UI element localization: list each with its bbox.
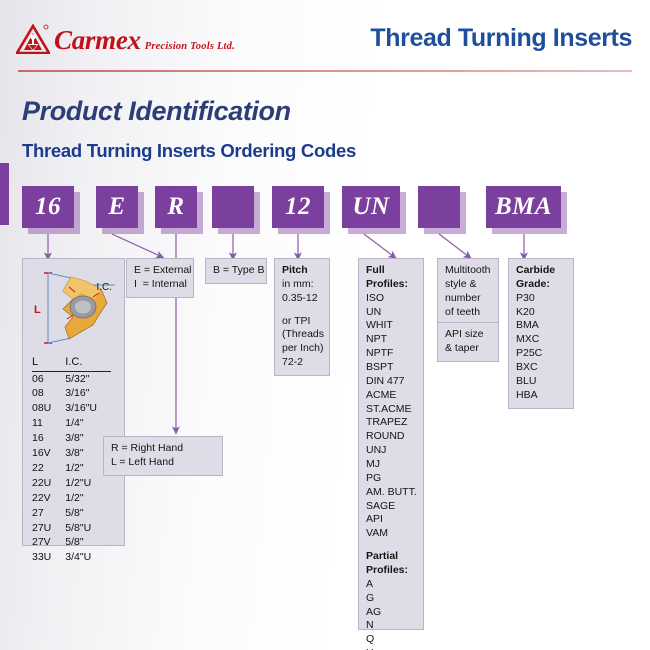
page-subtitle: Thread Turning Inserts Ordering Codes bbox=[22, 140, 356, 162]
multitooth-line-3: number bbox=[445, 292, 491, 306]
carmex-triangle-icon bbox=[16, 24, 50, 54]
pitch-mm-range: 0.35-12 bbox=[282, 292, 322, 306]
panel-hand-direction: R = Right Hand L = Left Hand bbox=[103, 436, 223, 476]
pitch-tpi-label: or TPI bbox=[282, 315, 322, 329]
table-row: 065/32" bbox=[32, 371, 111, 386]
panel-type-b: B = Type B bbox=[205, 258, 267, 284]
carbide-heading-2: Grade: bbox=[516, 278, 566, 292]
cell-ic: 1/4" bbox=[65, 416, 111, 431]
insert-figure: I.C. L bbox=[23, 259, 124, 355]
list-item: K20 bbox=[516, 306, 566, 320]
list-item: NPT bbox=[366, 333, 416, 347]
api-line-2: & taper bbox=[445, 342, 491, 356]
panel-profiles: Full Profiles: ISOUNWHITNPTNPTFBSPTDIN 4… bbox=[358, 258, 424, 630]
table-header-row: L I.C. bbox=[32, 355, 111, 371]
partial-profiles-heading-2: Profiles: bbox=[366, 564, 416, 578]
panel-external-internal: E = External I = Internal bbox=[126, 258, 194, 298]
left-accent-bar bbox=[0, 163, 9, 225]
column-header-l: L bbox=[32, 355, 65, 371]
api-line-1: API size bbox=[445, 328, 491, 342]
list-item: DIN 477 bbox=[366, 375, 416, 389]
pitch-tpi-range: 72-2 bbox=[282, 356, 322, 370]
carmex-logo: Carmex Precision Tools Ltd. bbox=[16, 24, 235, 54]
cell-ic: 3/16"U bbox=[65, 401, 111, 416]
ic-dimension-label: I.C. bbox=[96, 281, 112, 294]
partial-profiles-heading-1: Partial bbox=[366, 550, 416, 564]
list-item: AM. BUTT. bbox=[366, 486, 416, 500]
cell-l: 27 bbox=[32, 506, 65, 521]
cell-l: 27U bbox=[32, 521, 65, 536]
cell-l: 16V bbox=[32, 446, 65, 461]
carbide-heading-1: Carbide bbox=[516, 264, 566, 278]
list-item: VAM bbox=[366, 527, 416, 541]
code-box-type: E bbox=[96, 186, 138, 228]
cell-l: 27V bbox=[32, 535, 65, 550]
column-header-ic: I.C. bbox=[65, 355, 111, 371]
table-row: 27U5/8"U bbox=[32, 521, 111, 536]
cell-ic: 1/2" bbox=[65, 491, 111, 506]
cell-ic: 5/8"U bbox=[65, 521, 111, 536]
panel-carbide-grade: Carbide Grade: P30K20BMAMXCP25CBXCBLUHBA bbox=[508, 258, 574, 409]
carbide-grade-list: P30K20BMAMXCP25CBXCBLUHBA bbox=[516, 292, 566, 403]
full-profiles-heading-2: Profiles: bbox=[366, 278, 416, 292]
list-item: SAGE bbox=[366, 500, 416, 514]
list-item: ISO bbox=[366, 292, 416, 306]
cell-l: 22 bbox=[32, 461, 65, 476]
cell-l: 11 bbox=[32, 416, 65, 431]
list-item: BXC bbox=[516, 361, 566, 375]
list-item: AG bbox=[366, 606, 416, 620]
full-profiles-list: ISOUNWHITNPTNPTFBSPTDIN 477ACMEST.ACMETR… bbox=[366, 292, 416, 541]
table-row: 33U3/4"U bbox=[32, 550, 111, 565]
cell-ic: 5/8" bbox=[65, 506, 111, 521]
list-item: TRAPEZ bbox=[366, 416, 416, 430]
panel-api-size: API size & taper bbox=[437, 322, 499, 362]
list-item: BMA bbox=[516, 319, 566, 333]
table-row: 275/8" bbox=[32, 506, 111, 521]
cell-ic: 3/16" bbox=[65, 386, 111, 401]
l-dimension-label: L bbox=[34, 303, 41, 318]
table-row: 22V1/2" bbox=[32, 491, 111, 506]
panel-multitooth: Multitooth style & number of teeth bbox=[437, 258, 499, 325]
brand-name: Carmex bbox=[54, 27, 141, 54]
code-box-size: 16 bbox=[22, 186, 74, 228]
cell-ic: 5/8" bbox=[65, 535, 111, 550]
list-item: BLU bbox=[516, 375, 566, 389]
pitch-mm-label: in mm: bbox=[282, 278, 322, 292]
list-item: BSPT bbox=[366, 361, 416, 375]
list-item: MJ bbox=[366, 458, 416, 472]
multitooth-line-1: Multitooth bbox=[445, 264, 491, 278]
table-row: 16V3/8" bbox=[32, 446, 111, 461]
list-item: P25C bbox=[516, 347, 566, 361]
cell-l: 33U bbox=[32, 550, 65, 565]
document-page: Carmex Precision Tools Ltd. Thread Turni… bbox=[0, 0, 650, 650]
multitooth-line-4: of teeth bbox=[445, 306, 491, 320]
code-box-pitch: 12 bbox=[272, 186, 324, 228]
cell-l: 06 bbox=[32, 371, 65, 386]
brand-tagline: Precision Tools Ltd. bbox=[145, 42, 235, 55]
partial-profiles-list: AGAGNQU bbox=[366, 578, 416, 650]
profiles-spacer bbox=[366, 541, 416, 550]
list-item: ACME bbox=[366, 389, 416, 403]
list-item: MXC bbox=[516, 333, 566, 347]
pitch-tpi-desc2: per Inch) bbox=[282, 342, 322, 356]
cell-l: 08U bbox=[32, 401, 65, 416]
multitooth-line-2: style & bbox=[445, 278, 491, 292]
list-item: G bbox=[366, 592, 416, 606]
list-item: HBA bbox=[516, 389, 566, 403]
size-table: L I.C. 065/32"083/16"08U3/16"U111/4"163/… bbox=[32, 355, 111, 565]
pitch-spacer bbox=[282, 306, 322, 315]
list-item: ROUND bbox=[366, 430, 416, 444]
table-row: 08U3/16"U bbox=[32, 401, 111, 416]
cell-ic: 1/2"U bbox=[65, 476, 111, 491]
right-hand-line: R = Right Hand bbox=[111, 442, 215, 456]
pitch-heading: Pitch bbox=[282, 264, 322, 278]
list-item: API bbox=[366, 513, 416, 527]
code-box-style bbox=[212, 186, 254, 228]
page-header: Carmex Precision Tools Ltd. Thread Turni… bbox=[0, 0, 650, 72]
code-box-profile: UN bbox=[342, 186, 400, 228]
pitch-tpi-desc1: (Threads bbox=[282, 328, 322, 342]
panel-insert-size: I.C. L L I.C. 065/32"083/16"08U3/16"U111… bbox=[22, 258, 125, 546]
header-title: Thread Turning Inserts bbox=[370, 24, 632, 53]
list-item: ST.ACME bbox=[366, 403, 416, 417]
cell-l: 16 bbox=[32, 431, 65, 446]
table-row: 22U1/2"U bbox=[32, 476, 111, 491]
cell-l: 08 bbox=[32, 386, 65, 401]
external-line: E = External bbox=[134, 264, 186, 278]
panel-pitch: Pitch in mm: 0.35-12 or TPI (Threads per… bbox=[274, 258, 330, 376]
code-box-direction: R bbox=[155, 186, 197, 228]
list-item: WHIT bbox=[366, 319, 416, 333]
table-row: 221/2" bbox=[32, 461, 111, 476]
list-item: A bbox=[366, 578, 416, 592]
list-item: NPTF bbox=[366, 347, 416, 361]
list-item: Q bbox=[366, 633, 416, 647]
table-row: 083/16" bbox=[32, 386, 111, 401]
code-box-grade: BMA bbox=[486, 186, 561, 228]
internal-line: I = Internal bbox=[134, 278, 186, 292]
header-divider bbox=[18, 70, 632, 72]
type-b-line: B = Type B bbox=[213, 264, 259, 278]
list-item: PG bbox=[366, 472, 416, 486]
left-hand-line: L = Left Hand bbox=[111, 456, 215, 470]
cell-ic: 5/32" bbox=[65, 371, 111, 386]
list-item: P30 bbox=[516, 292, 566, 306]
cell-ic: 3/4"U bbox=[65, 550, 111, 565]
list-item: N bbox=[366, 619, 416, 633]
table-row: 111/4" bbox=[32, 416, 111, 431]
cell-l: 22U bbox=[32, 476, 65, 491]
list-item: UN bbox=[366, 306, 416, 320]
page-title: Product Identification bbox=[22, 96, 291, 127]
table-row: 163/8" bbox=[32, 431, 111, 446]
full-profiles-heading-1: Full bbox=[366, 264, 416, 278]
cell-l: 22V bbox=[32, 491, 65, 506]
code-box-multitooth bbox=[418, 186, 460, 228]
list-item: UNJ bbox=[366, 444, 416, 458]
table-row: 27V5/8" bbox=[32, 535, 111, 550]
